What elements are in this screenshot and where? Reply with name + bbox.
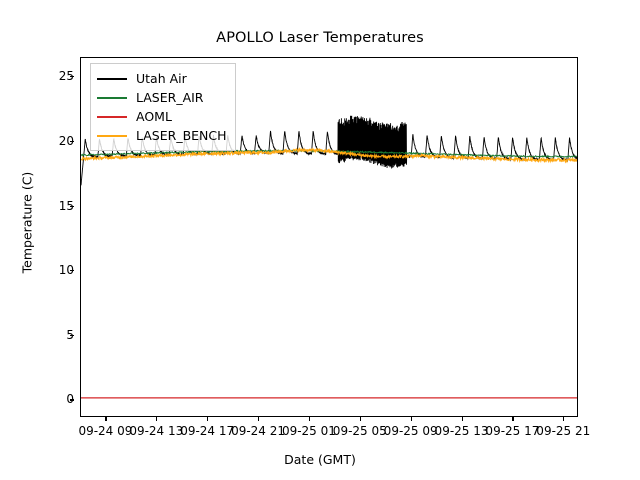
legend-item[interactable]: AOML bbox=[97, 107, 227, 126]
legend-label-laser-air: LASER_AIR bbox=[136, 90, 204, 105]
y-axis-ticks bbox=[0, 57, 80, 417]
x-tick-label: 09-24 13 bbox=[129, 424, 183, 438]
x-axis-label: Date (GMT) bbox=[0, 452, 640, 467]
x-tick-mark bbox=[462, 417, 463, 421]
legend-swatch-laser-air bbox=[97, 97, 127, 99]
x-tick-label: 09-25 13 bbox=[435, 424, 489, 438]
legend-item[interactable]: Utah Air bbox=[97, 69, 227, 88]
x-tick-label: 09-25 17 bbox=[485, 424, 539, 438]
y-tick-mark bbox=[70, 206, 74, 207]
plot-area: Utah Air LASER_AIR AOML LASER_BENCH bbox=[80, 57, 578, 417]
x-axis-ticks bbox=[80, 417, 578, 423]
x-tick-mark bbox=[563, 417, 564, 421]
x-tick-mark bbox=[411, 417, 412, 421]
x-tick-label: 09-25 21 bbox=[536, 424, 590, 438]
y-tick-mark bbox=[70, 76, 74, 77]
x-tick-label: 09-25 09 bbox=[384, 424, 438, 438]
y-tick-mark bbox=[70, 270, 74, 271]
legend-swatch-utah-air bbox=[97, 78, 127, 80]
x-tick-mark bbox=[105, 417, 106, 421]
x-tick-label: 09-24 09 bbox=[78, 424, 132, 438]
y-tick-mark bbox=[70, 141, 74, 142]
x-tick-label: 09-25 05 bbox=[333, 424, 387, 438]
x-tick-mark bbox=[258, 417, 259, 421]
legend-label-aoml: AOML bbox=[136, 109, 172, 124]
legend: Utah Air LASER_AIR AOML LASER_BENCH bbox=[90, 63, 236, 151]
y-tick-mark bbox=[70, 399, 74, 400]
x-tick-label: 09-25 01 bbox=[282, 424, 336, 438]
x-tick-mark bbox=[512, 417, 513, 421]
x-tick-label: 09-24 17 bbox=[180, 424, 234, 438]
legend-swatch-aoml bbox=[97, 116, 127, 118]
y-tick-mark bbox=[70, 335, 74, 336]
x-axis-tick-labels: 09-24 0909-24 1309-24 1709-24 2109-25 01… bbox=[80, 424, 578, 444]
x-tick-mark bbox=[207, 417, 208, 421]
legend-label-utah-air: Utah Air bbox=[136, 71, 187, 86]
x-tick-mark bbox=[156, 417, 157, 421]
chart-title: APOLLO Laser Temperatures bbox=[0, 30, 640, 46]
legend-label-laser-bench: LASER_BENCH bbox=[136, 128, 227, 143]
chart-figure: APOLLO Laser Temperatures Temperature (C… bbox=[0, 0, 640, 480]
legend-item[interactable]: LASER_BENCH bbox=[97, 126, 227, 145]
x-tick-label: 09-24 21 bbox=[231, 424, 285, 438]
x-tick-mark bbox=[309, 417, 310, 421]
x-tick-mark bbox=[360, 417, 361, 421]
legend-item[interactable]: LASER_AIR bbox=[97, 88, 227, 107]
legend-swatch-laser-bench bbox=[97, 135, 127, 137]
